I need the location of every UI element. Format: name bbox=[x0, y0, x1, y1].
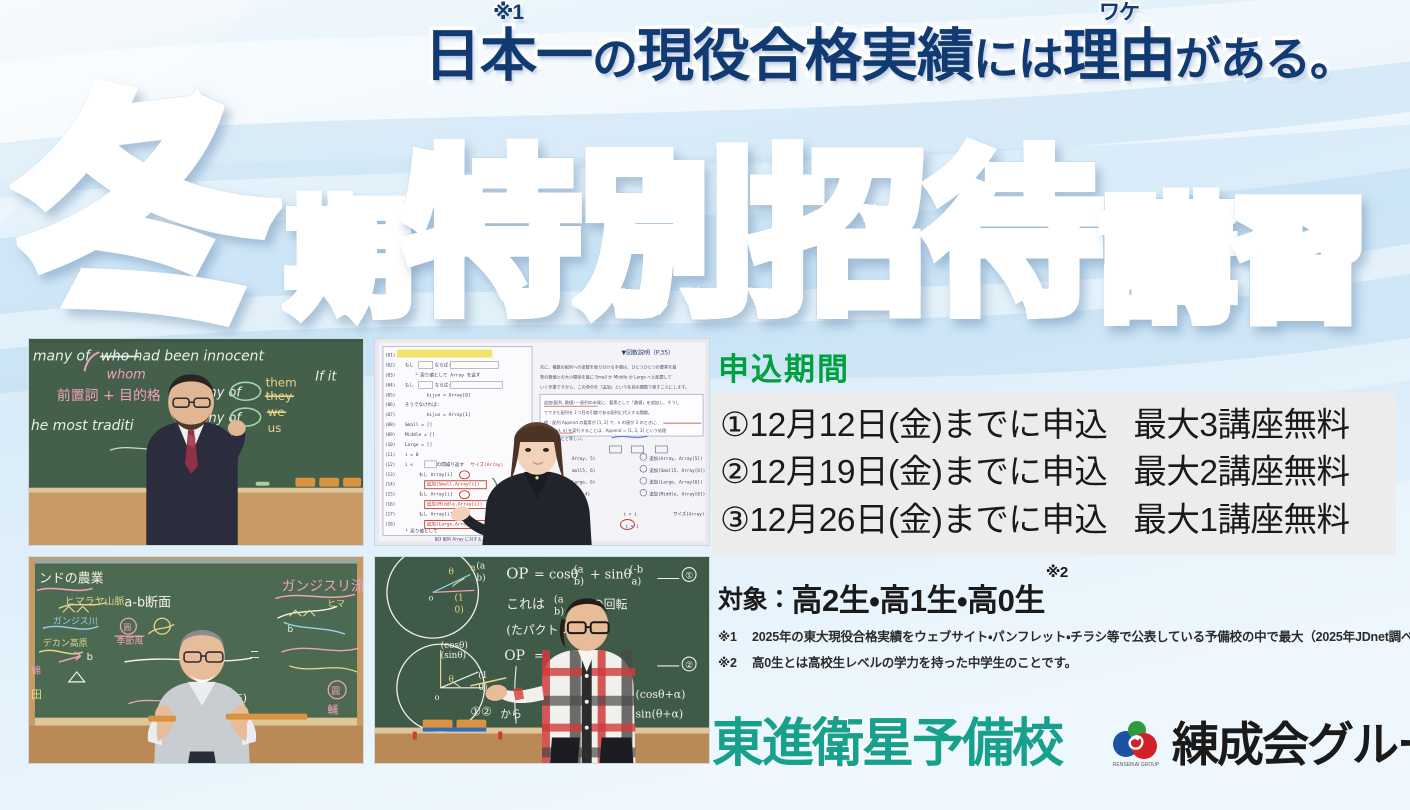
svg-text:(sinθ): (sinθ) bbox=[441, 650, 467, 661]
svg-text:b): b) bbox=[574, 576, 584, 587]
svg-text:(07): (07) bbox=[385, 412, 396, 418]
ruby-note-mark: ※1 bbox=[493, 2, 523, 23]
apply-period-panel: ①12月12日(金)までに申込 最大3講座無料 ②12月19日(金)までに申込 … bbox=[712, 393, 1396, 556]
svg-text:o: o bbox=[429, 593, 434, 602]
svg-text:them: them bbox=[266, 375, 297, 389]
svg-text:(a: (a bbox=[476, 561, 485, 572]
svg-text:a): a) bbox=[631, 576, 641, 587]
headline-part-2: の bbox=[592, 33, 637, 85]
svg-text:0): 0) bbox=[455, 604, 464, 615]
svg-text:(06): (06) bbox=[385, 402, 396, 408]
svg-text:田: 田 bbox=[31, 688, 42, 701]
logo-rensei-group: RENSEIKAI GROUP 練成会グループ bbox=[1110, 718, 1410, 770]
headline-part-4: には bbox=[973, 33, 1063, 85]
svg-text:から: から bbox=[500, 708, 522, 721]
svg-text:(10): (10) bbox=[385, 442, 396, 448]
logo-rensei-text: 練成会グループ bbox=[1172, 721, 1410, 768]
svg-text:(01): (01) bbox=[385, 353, 396, 359]
photo-geography-teacher-chalkboard: ンドの農業 ヒマラヤ山脈 ガンジス川 デカン高原 綿 b 田 a-b断面 bbox=[28, 556, 364, 764]
page-title: ※1 日本一 の現役合格実績には ワケ 理由 がある。 bbox=[424, 28, 1324, 85]
footnote-1: ※1 2025年の東大現役合格実績をウェブサイト・パンフレット・チラシ等で公表し… bbox=[712, 629, 1396, 646]
footnote-2: ※2 高0生とは高校生レベルの学力を持った中学生のことです。 bbox=[712, 655, 1396, 672]
svg-text:①②: ①② bbox=[470, 705, 491, 719]
svg-text:の間繰り返す: の間繰り返す bbox=[437, 461, 465, 468]
svg-text:+ sinθ: + sinθ bbox=[590, 567, 632, 582]
svg-text:(17): (17) bbox=[385, 512, 396, 518]
target-value: 高2生・高1生・高0生 bbox=[792, 575, 1045, 620]
headline-part-3: 現役合格実績 bbox=[637, 24, 973, 88]
footnote-1-text: 2025年の東大現役合格実績をウェブサイト・パンフレット・チラシ等で公表している… bbox=[752, 629, 1410, 646]
svg-text:季節風: 季節風 bbox=[116, 635, 143, 647]
svg-text:mall5, 6): mall5, 6) bbox=[572, 468, 596, 474]
svg-text:もし Array[i]: もし Array[i] bbox=[419, 512, 453, 518]
apply-row: ②12月19日(金)までに申込 最大2講座無料 bbox=[720, 449, 1396, 497]
svg-text:(11): (11) bbox=[385, 452, 396, 458]
svg-text:θ: θ bbox=[449, 675, 454, 685]
svg-text:いく作業ですから、この命令を「追加」という名前の関数で表すこ: いく作業ですから、この命令を「追加」という名前の関数で表すことにします。 bbox=[540, 383, 689, 389]
target-footnote-mark: ※2 bbox=[1046, 563, 1068, 581]
headline-part-5: 理由 bbox=[1063, 24, 1175, 88]
svg-text:kijun = Array[0]: kijun = Array[0] bbox=[427, 392, 471, 398]
svg-text:Large = []: Large = [] bbox=[405, 442, 432, 448]
photo-grid: many of who had been innocent whom 前置詞 +… bbox=[28, 338, 710, 775]
apply-deadline: ②12月19日(金)までに申込 bbox=[720, 449, 1107, 497]
svg-text:もし: もし bbox=[405, 382, 415, 388]
svg-text:そうでなければ:: そうでなければ: bbox=[405, 401, 440, 408]
svg-text:もし Array[i]: もし Array[i] bbox=[419, 492, 453, 498]
apply-period-heading: 申込期間 bbox=[712, 352, 1396, 388]
svg-text:(13): (13) bbox=[385, 472, 396, 478]
svg-text:i <: i < bbox=[405, 462, 413, 468]
svg-text:(02): (02) bbox=[385, 362, 396, 368]
right-column: 申込期間 ①12月12日(金)までに申込 最大3講座無料 ②12月19日(金)ま… bbox=[712, 352, 1396, 672]
ruby-group-nihonichi: ※1 日本一 bbox=[424, 28, 592, 85]
svg-text:(cosθ): (cosθ) bbox=[441, 640, 468, 651]
svg-text:例：配列 Append の要素が [1, 2] で、n の値: 例：配列 Append の要素が [1, 2] で、n の値が 3 のときに、 bbox=[544, 419, 660, 425]
apply-deadline: ①12月12日(金)までに申込 bbox=[720, 402, 1107, 450]
svg-text:追加(Large, Array[6]): 追加(Large, Array[6]) bbox=[649, 479, 702, 486]
svg-text:サイズ(Array): サイズ(Array) bbox=[470, 461, 503, 468]
apply-deadline: ③12月26日(金)までに申込 bbox=[720, 497, 1107, 545]
svg-text:= cosθ: = cosθ bbox=[534, 567, 579, 582]
svg-text:追加(配列, 数値) 一配列の末尾に、要素として「数値」を追: 追加(配列, 数値) 一配列の末尾に、要素として「数値」を追加し、そうし bbox=[544, 399, 680, 405]
photo-informatics-teacher-slide: (01)(02)(03) (04)(05)(06) (07)(08)(09) (… bbox=[374, 338, 710, 546]
svg-text:whom: whom bbox=[107, 367, 146, 382]
main-title-char-fuyu: 冬 bbox=[8, 74, 287, 353]
main-title-char-shuu: 習 bbox=[1234, 196, 1366, 328]
main-title-char-shou: 招 bbox=[752, 148, 928, 324]
rensei-mark-caption: RENSEIKAI GROUP bbox=[1113, 762, 1160, 768]
svg-text:(-b: (-b bbox=[629, 565, 643, 576]
svg-text:i = 0: i = 0 bbox=[405, 452, 419, 458]
svg-text:ヒマラヤ山脈: ヒマラヤ山脈 bbox=[65, 594, 125, 607]
svg-text:(12): (12) bbox=[385, 462, 396, 468]
svg-text:OP: OP bbox=[504, 648, 525, 664]
svg-text:(09): (09) bbox=[385, 432, 396, 438]
headline-part-1: 日本一 bbox=[424, 24, 592, 88]
headline-part-6: がある。 bbox=[1175, 33, 1355, 85]
main-title-char-ki: 期 bbox=[288, 198, 412, 322]
svg-text:ガンジス川: ガンジス川 bbox=[53, 616, 98, 627]
svg-text:もし Array[i]: もし Array[i] bbox=[419, 472, 453, 478]
poster-root: ※1 日本一 の現役合格実績には ワケ 理由 がある。 冬 期 特 別 招 待 … bbox=[0, 0, 1410, 810]
photo-english-teacher-chalkboard: many of who had been innocent whom 前置詞 +… bbox=[28, 338, 364, 546]
svg-text:ヒマ: ヒマ bbox=[327, 598, 345, 609]
svg-text:(03): (03) bbox=[385, 372, 396, 378]
apply-benefit: 最大2講座無料 bbox=[1133, 449, 1349, 497]
svg-text:b): b) bbox=[476, 572, 485, 583]
apply-row: ①12月12日(金)までに申込 最大3講座無料 bbox=[720, 402, 1396, 450]
svg-text:kijun = Array[1]: kijun = Array[1] bbox=[427, 412, 471, 418]
logo-toshin-part1: 東進 bbox=[712, 718, 812, 770]
apply-row: ③12月26日(金)までに申込 最大1講座無料 bbox=[720, 497, 1396, 545]
svg-text:many of: many of bbox=[33, 348, 92, 364]
svg-text:he most traditi: he most traditi bbox=[31, 418, 134, 434]
svg-text:準の数値との大小関係を基に Small か Middle か: 準の数値との大小関係を基に Small か Middle か Large へと配… bbox=[540, 373, 672, 379]
svg-text:追加(Middle,Array[i]): 追加(Middle,Array[i]) bbox=[427, 501, 483, 508]
main-title-char-toku: 特 bbox=[404, 148, 580, 324]
apply-benefit: 最大3講座無料 bbox=[1133, 402, 1349, 450]
svg-text:二: 二 bbox=[250, 650, 260, 661]
svg-text:(a: (a bbox=[574, 565, 584, 576]
svg-text:sin(θ+α): sin(θ+α) bbox=[635, 708, 683, 721]
rensei-group-mark-icon: RENSEIKAI GROUP bbox=[1110, 718, 1162, 770]
svg-text:もし: もし bbox=[405, 362, 415, 368]
main-title-char-kou: 講 bbox=[1102, 196, 1234, 328]
svg-text:us: us bbox=[268, 421, 282, 435]
svg-text:追加(Small5, Array[6]): 追加(Small5, Array[6]) bbox=[649, 467, 705, 474]
svg-text:サイズ(Array): サイズ(Array) bbox=[673, 511, 704, 518]
main-title: 冬 期 特 別 招 待 講 習 bbox=[0, 92, 1410, 332]
ruby-group-riyuu: ワケ 理由 bbox=[1063, 28, 1175, 85]
svg-text:Append, n) を実行することは、Append = [: Append, n) を実行することは、Append = [1, 2, 3] と… bbox=[544, 427, 666, 433]
svg-text:▼図数説明（P.35）: ▼図数説明（P.35） bbox=[622, 349, 674, 357]
target-label: 対象： bbox=[718, 580, 792, 616]
svg-text:Small = []: Small = [] bbox=[405, 422, 432, 428]
svg-text:a-b断面: a-b断面 bbox=[124, 595, 171, 610]
svg-text:ガンジスリ流: ガンジスリ流 bbox=[281, 578, 363, 594]
svg-text:If it: If it bbox=[315, 369, 337, 384]
svg-text:②: ② bbox=[685, 661, 693, 671]
svg-text:i = i: i = i bbox=[624, 512, 637, 518]
logo-toshin-eisei-yobiko: 東進衛星予備校 bbox=[712, 718, 1062, 770]
svg-text:次に、複数の配列への変数を振り分ける手順は、ひとつひとつの要: 次に、複数の配列への変数を振り分ける手順は、ひとつひとつの要素を基 bbox=[540, 363, 676, 369]
svg-text:綿: 綿 bbox=[31, 664, 41, 677]
svg-text:(a: (a bbox=[554, 594, 564, 605]
logo-row: 東進衛星予備校 RENSEIKAI GROUP 練成会グループ bbox=[712, 708, 1402, 780]
svg-text:(18): (18) bbox=[385, 522, 396, 528]
svg-text:輔: 輔 bbox=[327, 704, 338, 717]
svg-text:(15): (15) bbox=[385, 492, 396, 498]
svg-text:b: b bbox=[87, 652, 93, 663]
svg-text:(08): (08) bbox=[385, 422, 396, 428]
svg-text:θ: θ bbox=[449, 568, 454, 578]
svg-text:(14): (14) bbox=[385, 482, 396, 488]
svg-text:前置詞 + 目的格: 前置詞 + 目的格 bbox=[57, 387, 161, 404]
footnote-2-text: 高0生とは高校生レベルの学力を持った中学生のことです。 bbox=[752, 655, 1077, 672]
apply-benefit: 最大1講座無料 bbox=[1133, 497, 1349, 545]
svg-text:Middle = []: Middle = [] bbox=[405, 432, 435, 438]
target-audience-line: 対象： 高2生・高1生・高0生 ※2 bbox=[712, 575, 1396, 620]
svg-text:o: o bbox=[435, 693, 440, 702]
svg-text:b): b) bbox=[554, 606, 564, 617]
svg-text:OP: OP bbox=[506, 564, 528, 582]
svg-text:└ 戻り値として Array を返す: └ 戻り値として Array を返す bbox=[415, 371, 481, 378]
svg-text:ならば:: ならば: bbox=[435, 381, 451, 388]
logo-toshin-part3: 予備校 bbox=[912, 718, 1062, 770]
photo-math-teacher-chalkboard: θ a o (a b) (1 0) (cosθ) (sinθ) θ o bbox=[374, 556, 710, 764]
footnote-1-mark: ※1 bbox=[718, 629, 752, 646]
main-title-char-tai: 待 bbox=[926, 148, 1102, 324]
svg-text:ンドの農業: ンドの農業 bbox=[39, 570, 104, 586]
footnote-2-mark: ※2 bbox=[718, 655, 752, 672]
svg-text:てできた配列を１つ目の引数である配列に代入する関数。: てできた配列を１つ目の引数である配列に代入する関数。 bbox=[544, 409, 652, 415]
svg-text:(1: (1 bbox=[478, 670, 487, 681]
svg-text:デカン高原: デカン高原 bbox=[43, 637, 88, 649]
svg-text:(cosθ+α): (cosθ+α) bbox=[635, 688, 685, 701]
svg-text:(05): (05) bbox=[385, 392, 396, 398]
svg-text:Array, 5): Array, 5) bbox=[572, 456, 596, 462]
svg-text:①: ① bbox=[685, 571, 693, 581]
svg-text:追加(Array, Array[5]): 追加(Array, Array[5]) bbox=[649, 455, 702, 462]
main-title-char-betsu: 別 bbox=[578, 148, 754, 324]
svg-text:圓: 圓 bbox=[123, 623, 131, 632]
svg-text:(1: (1 bbox=[455, 592, 464, 603]
logo-toshin-part2: 衛星 bbox=[812, 718, 912, 770]
svg-text:b: b bbox=[287, 625, 293, 635]
ruby-wake-mark: ワケ bbox=[1099, 2, 1139, 23]
svg-text:追加(Small,Array[i]): 追加(Small,Array[i]) bbox=[427, 481, 480, 488]
svg-text:ならば:: ならば: bbox=[435, 361, 451, 368]
svg-text:圓: 圓 bbox=[331, 686, 340, 697]
svg-text:これは: これは bbox=[506, 597, 545, 612]
svg-text:追加(Middle, Array[6]): 追加(Middle, Array[6]) bbox=[649, 491, 705, 498]
svg-text:(16): (16) bbox=[385, 502, 396, 508]
svg-text:(04): (04) bbox=[385, 382, 396, 388]
